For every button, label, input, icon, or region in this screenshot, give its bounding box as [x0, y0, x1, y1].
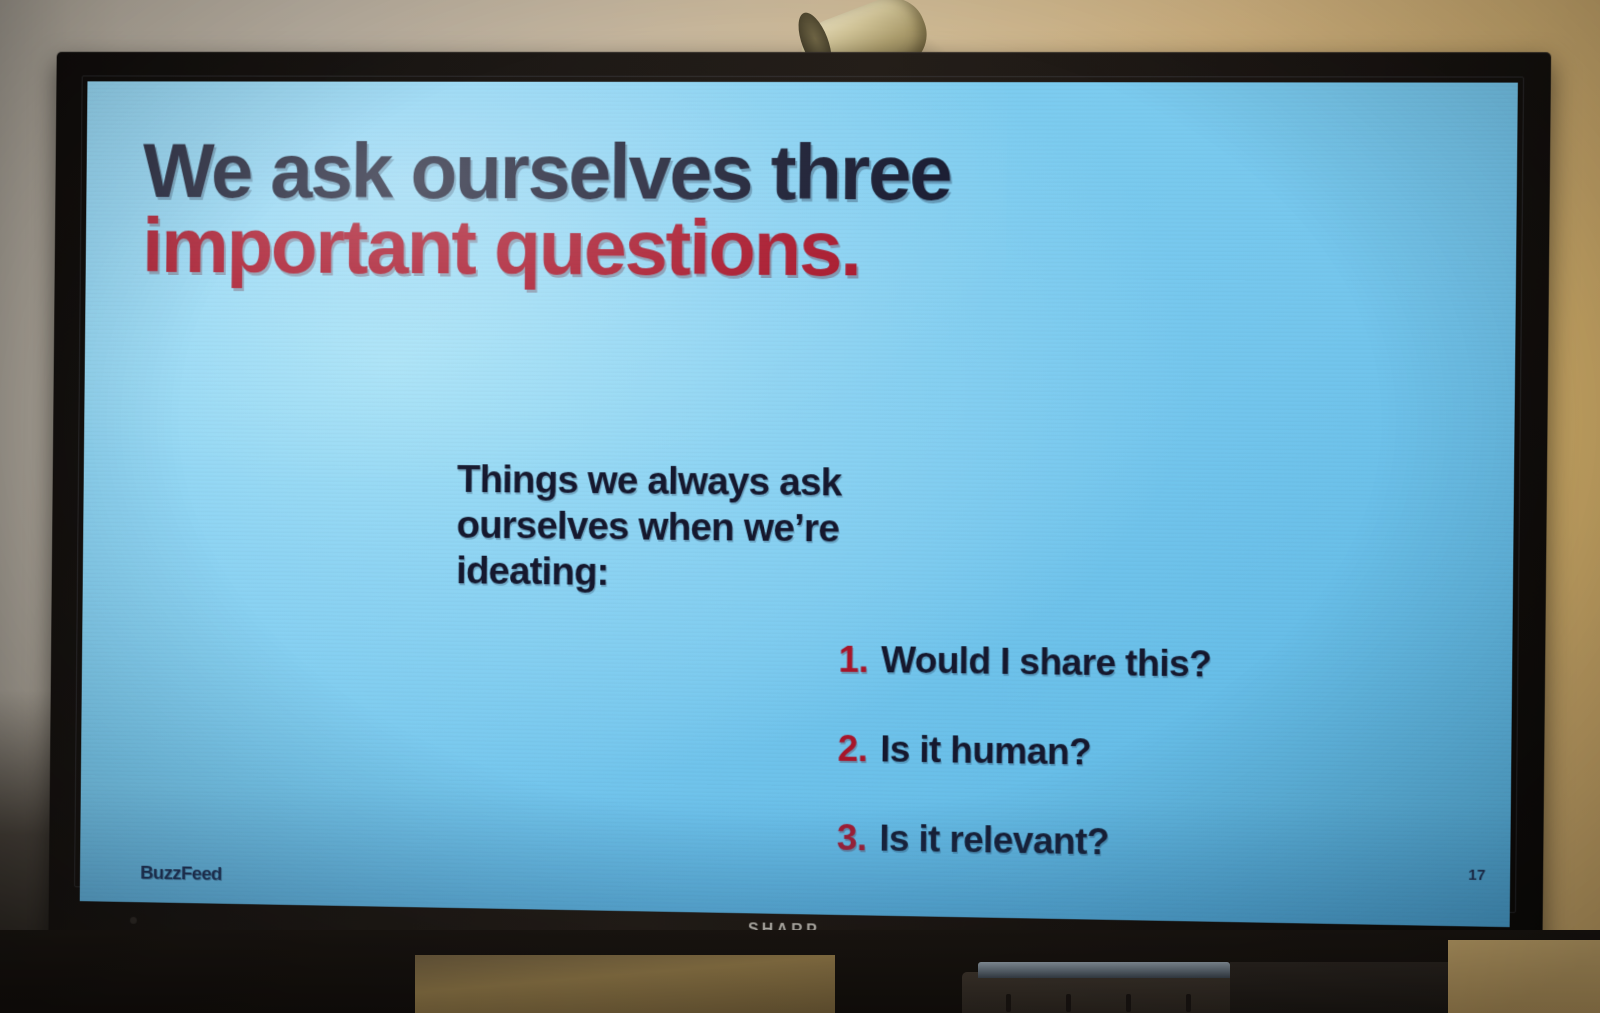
question-number: 1. [838, 641, 868, 680]
question-text: Would I share this? [881, 641, 1212, 684]
question-text: Is it relevant? [879, 819, 1109, 862]
list-item: 2. Is it human? [837, 730, 1466, 778]
cabinet-front [415, 955, 835, 1013]
wall-lower-right [1448, 940, 1600, 1013]
photo-scene: We ask ourselves three important questio… [0, 0, 1600, 1013]
wall-mounted-display: We ask ourselves three important questio… [48, 52, 1551, 967]
question-list: 1. Would I share this? 2. Is it human? 3… [837, 641, 1468, 868]
slide-title-line-2: important questions. [142, 208, 1196, 289]
slide-page-number: 17 [1468, 867, 1485, 885]
question-text: Is it human? [880, 730, 1091, 772]
laptop-lid [978, 962, 1230, 978]
chair-slots [962, 992, 1230, 1013]
slide-title: We ask ourselves three important questio… [142, 133, 1196, 289]
question-number: 3. [837, 818, 867, 857]
table-edge [1230, 962, 1480, 1013]
ir-sensor-icon [130, 917, 137, 924]
presentation-slide: We ask ourselves three important questio… [80, 81, 1518, 927]
slide-title-line-1: We ask ourselves three [143, 133, 1197, 212]
buzzfeed-logo: BuzzFeed [140, 863, 222, 886]
question-number: 2. [837, 730, 867, 769]
slide-lead-text: Things we always ask ourselves when we’r… [456, 457, 975, 600]
display-screen: We ask ourselves three important questio… [80, 81, 1518, 927]
list-item: 3. Is it relevant? [837, 818, 1466, 868]
list-item: 1. Would I share this? [838, 641, 1467, 688]
